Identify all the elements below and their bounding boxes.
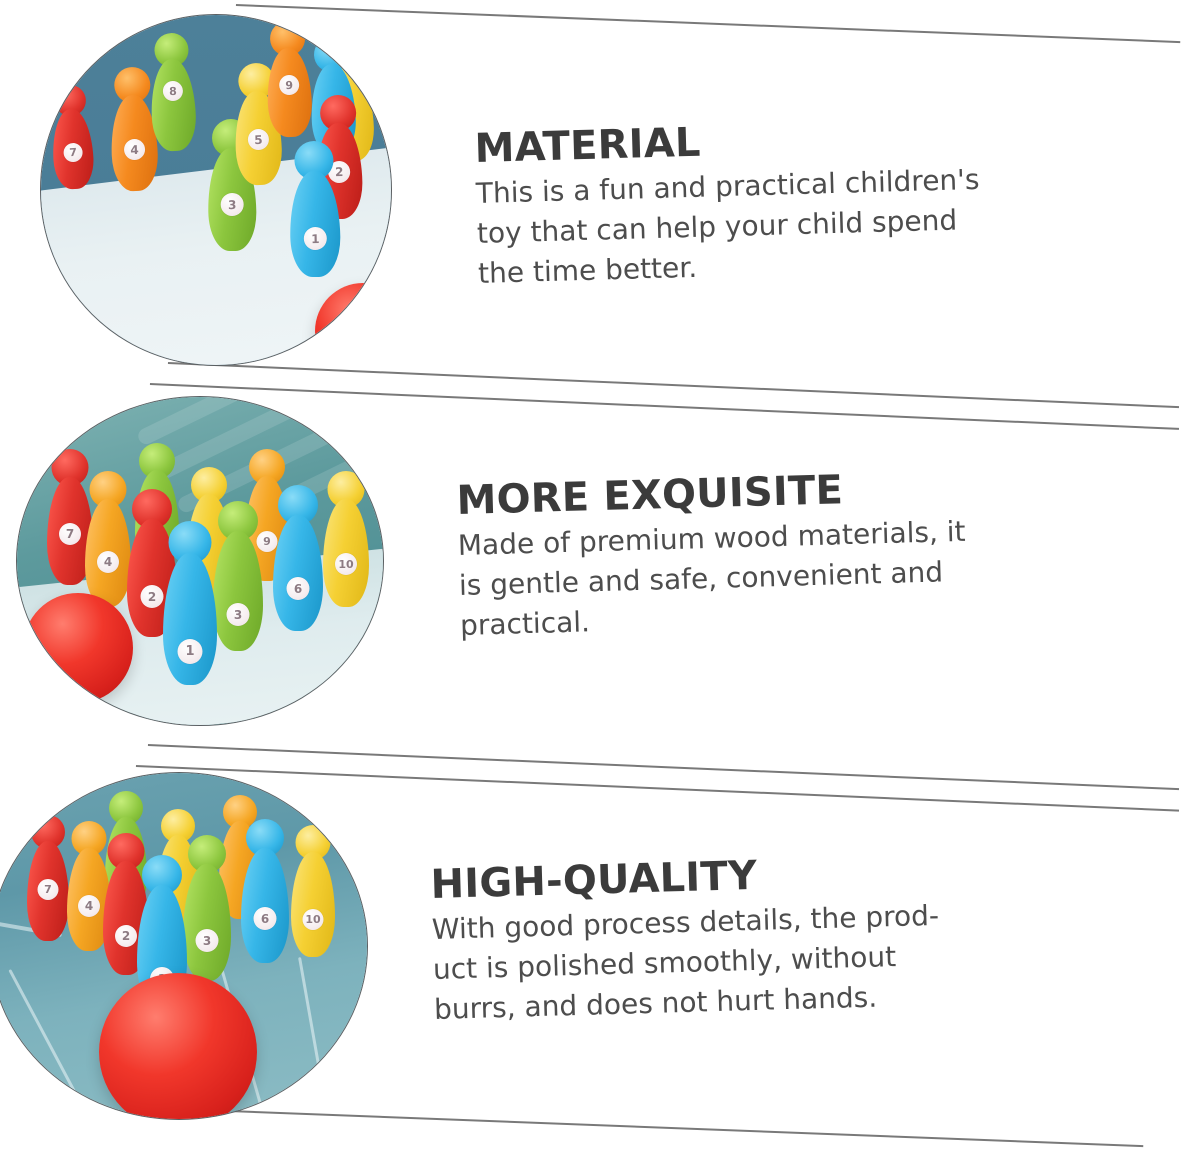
pin-3: 3	[213, 501, 263, 651]
pin-9: 9	[265, 20, 313, 137]
pin-1: 1	[163, 521, 217, 685]
section-2-text: MORE EXQUISITE Made of premium wood mate…	[456, 461, 1080, 646]
infographic-page: 7 4 8 3 5	[0, 0, 1202, 1161]
section-3-body: With good process details, the prod- uct…	[431, 892, 1074, 1030]
section-2-body: Made of premium wood materials, it is ge…	[457, 509, 1080, 646]
section-1-photo: 7 4 8 3 5	[40, 14, 392, 366]
pin-8: 8	[149, 32, 197, 151]
section-3-text: HIGH-QUALITY With good process details, …	[430, 844, 1074, 1030]
section-1-text: MATERIAL This is a fun and practical chi…	[474, 109, 1078, 294]
section-2-photo: 7 4 9 10	[16, 396, 384, 726]
bowling-ball	[99, 973, 257, 1120]
pin-6: 6	[241, 819, 289, 963]
pin-6: 6	[273, 485, 323, 631]
pin-3: 3	[183, 835, 231, 981]
section-1-body: This is a fun and practical children's t…	[475, 157, 1078, 294]
pin-4: 4	[85, 471, 131, 607]
pin-10: 10	[323, 471, 369, 607]
pin-7: 7	[50, 84, 95, 190]
pin-1: 1	[289, 141, 341, 278]
pin-7: 7	[27, 815, 69, 941]
pin-10: 10	[291, 825, 335, 957]
section-3-photo: 7 4 10	[0, 772, 368, 1120]
bowling-ball	[23, 593, 133, 703]
